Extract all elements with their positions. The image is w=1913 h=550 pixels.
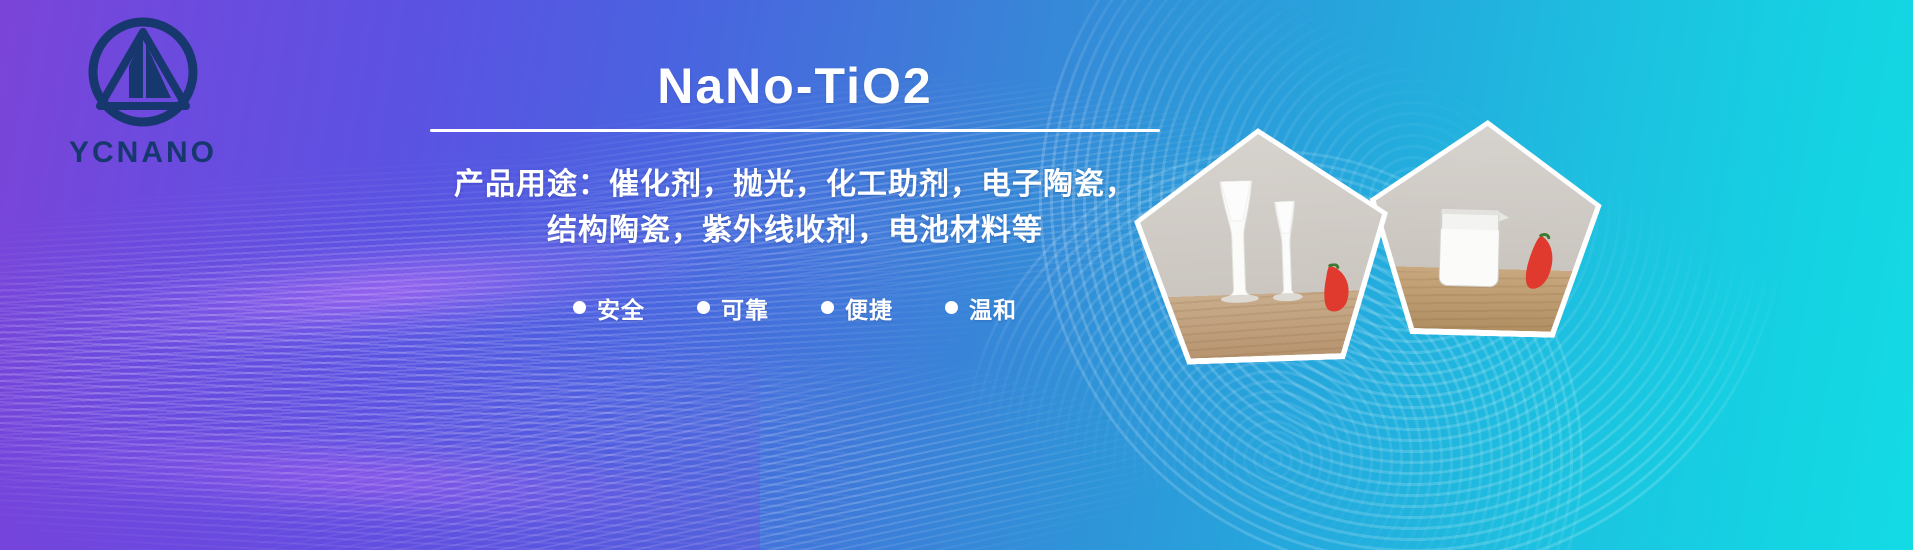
- page-title: NaNo-TiO2: [430, 60, 1160, 113]
- feature-list: 安全 可靠 便捷 温和: [430, 291, 1160, 325]
- red-chili-icon: [1320, 263, 1356, 316]
- feature-item-convenient: 便捷: [821, 291, 893, 325]
- feature-label: 温和: [969, 291, 1017, 325]
- tall-white-vase-icon: [1211, 180, 1265, 304]
- short-white-vase-icon: [1263, 200, 1308, 301]
- feature-item-mild: 温和: [945, 291, 1017, 325]
- feature-item-reliable: 可靠: [697, 291, 769, 325]
- feature-label: 可靠: [721, 291, 769, 325]
- bottom-vignette: [0, 340, 760, 550]
- bullet-dot-icon: [697, 301, 710, 314]
- purple-glow-wave-lower: [0, 356, 865, 550]
- bullet-dot-icon: [945, 301, 958, 314]
- subtitle-line-2: 结构陶瓷，紫外线收剂，电池材料等: [430, 208, 1160, 255]
- subtitle: 产品用途：催化剂，抛光，化工助剂，电子陶瓷， 结构陶瓷，紫外线收剂，电池材料等: [430, 162, 1160, 255]
- product-banner: YCNANO NaNo-TiO2 产品用途：催化剂，抛光，化工助剂，电子陶瓷， …: [0, 0, 1913, 550]
- brand-logo[interactable]: YCNANO: [48, 14, 238, 170]
- title-divider: [430, 129, 1160, 132]
- mountain-in-circle-logo-icon: [83, 14, 203, 134]
- red-chili-icon: [1521, 231, 1559, 294]
- beaker-icon: [1425, 202, 1517, 296]
- feature-item-safe: 安全: [573, 291, 645, 325]
- subtitle-line-1: 产品用途：催化剂，抛光，化工助剂，电子陶瓷，: [430, 162, 1160, 209]
- banner-copy: NaNo-TiO2 产品用途：催化剂，抛光，化工助剂，电子陶瓷， 结构陶瓷，紫外…: [430, 60, 1160, 325]
- brand-wordmark: YCNANO: [48, 136, 238, 170]
- bullet-dot-icon: [821, 301, 834, 314]
- feature-label: 便捷: [845, 291, 893, 325]
- bullet-dot-icon: [573, 301, 586, 314]
- feature-label: 安全: [597, 291, 645, 325]
